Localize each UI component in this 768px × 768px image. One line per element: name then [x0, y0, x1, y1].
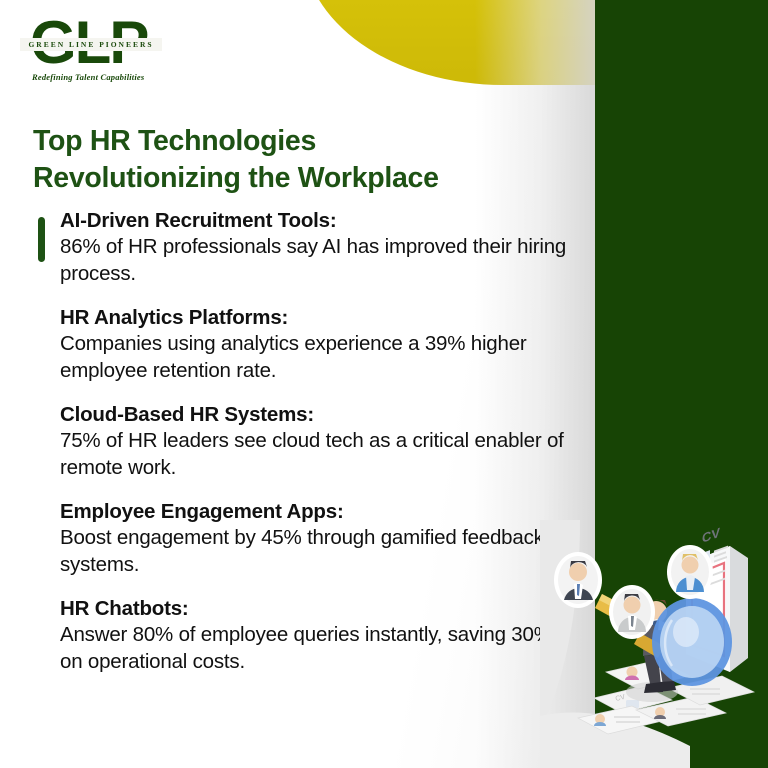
list-item-heading: HR Chatbots: [60, 596, 573, 622]
avatar-bubble [667, 545, 713, 599]
list-item-body: 75% of HR leaders see cloud tech as a cr… [60, 428, 573, 481]
list-item: HR Analytics Platforms: Companies using … [33, 305, 573, 384]
cv-title: CV [702, 525, 720, 546]
recruitment-illustration: CV [540, 520, 768, 768]
logo-ribbon-text: GREEN LINE PIONEERS [28, 40, 153, 49]
logo-ribbon: GREEN LINE PIONEERS [20, 38, 162, 51]
avatar-bubble [554, 552, 602, 608]
avatar-bubble [609, 585, 655, 639]
list-item-body: Answer 80% of employee queries instantly… [60, 622, 573, 675]
list-item-body: 86% of HR professionals say AI has impro… [60, 234, 573, 287]
list-item: Cloud-Based HR Systems: 75% of HR leader… [33, 402, 573, 481]
list-item-body: Companies using analytics experience a 3… [60, 331, 573, 384]
infographic-poster: GLP GREEN LINE PIONEERS Redefining Talen… [0, 0, 768, 768]
list-item-heading: AI-Driven Recruitment Tools: [60, 208, 573, 234]
page-title-line-1: Top HR Technologies [33, 123, 573, 160]
list-item-body: Boost engagement by 45% through gamified… [60, 525, 573, 578]
ground-curve [540, 520, 580, 730]
logo-tagline: Redefining Talent Capabilities [32, 72, 172, 82]
accent-bar [38, 217, 45, 262]
page-title: Top HR Technologies Revolutionizing the … [33, 123, 573, 197]
list-item-heading: Cloud-Based HR Systems: [60, 402, 573, 428]
page-title-line-2: Revolutionizing the Workplace [33, 160, 573, 197]
technology-list: AI-Driven Recruitment Tools: 86% of HR p… [33, 208, 573, 693]
list-item-heading: HR Analytics Platforms: [60, 305, 573, 331]
list-item: AI-Driven Recruitment Tools: 86% of HR p… [33, 208, 573, 287]
list-item-heading: Employee Engagement Apps: [60, 499, 573, 525]
list-item: Employee Engagement Apps: Boost engageme… [33, 499, 573, 578]
list-item: HR Chatbots: Answer 80% of employee quer… [33, 596, 573, 675]
brand-logo: GLP GREEN LINE PIONEERS Redefining Talen… [20, 12, 170, 90]
